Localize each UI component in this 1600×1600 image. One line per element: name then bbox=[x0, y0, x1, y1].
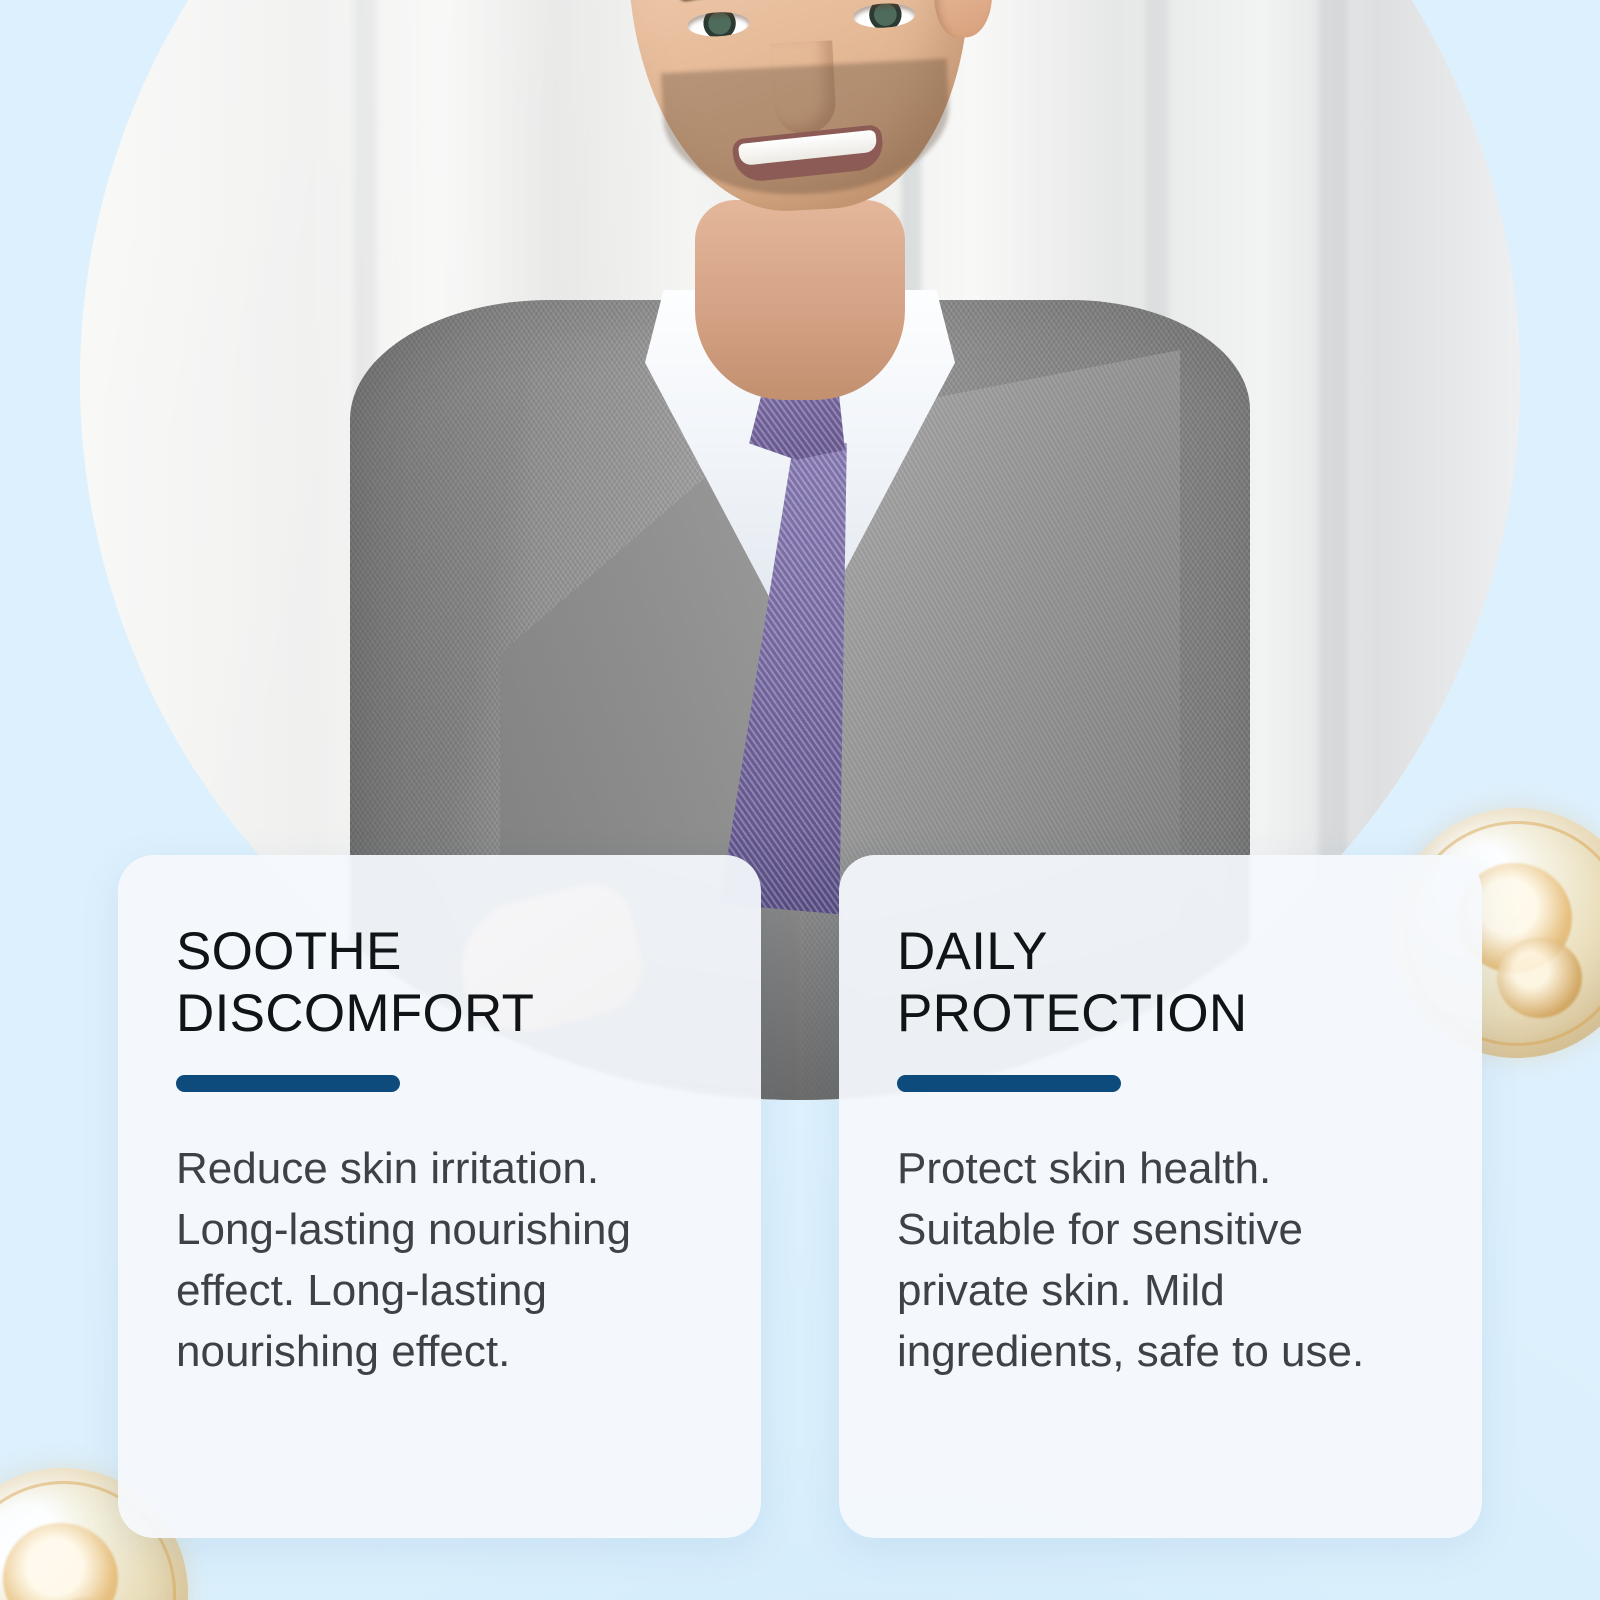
stubble-beard bbox=[661, 58, 953, 201]
feature-card-body: Protect skin health. Suitable for sensit… bbox=[897, 1138, 1422, 1382]
feature-card-daily-protection[interactable]: DAILY PROTECTION Protect skin health. Su… bbox=[839, 855, 1482, 1538]
neck bbox=[695, 200, 905, 400]
feature-card-body: Reduce skin irritation. Long-lasting nou… bbox=[176, 1138, 701, 1382]
eye-right bbox=[853, 2, 916, 29]
promo-banner: SOOTHE DISCOMFORT Reduce skin irritation… bbox=[0, 0, 1600, 1600]
accent-rule bbox=[176, 1075, 400, 1092]
eyebrow-left bbox=[677, 0, 764, 3]
feature-card-soothe-discomfort[interactable]: SOOTHE DISCOMFORT Reduce skin irritation… bbox=[118, 855, 761, 1538]
head bbox=[619, 0, 981, 219]
ear bbox=[931, 0, 994, 39]
eye-left bbox=[687, 11, 750, 38]
feature-card-title: DAILY PROTECTION bbox=[897, 921, 1422, 1045]
accent-rule bbox=[897, 1075, 1121, 1092]
droplet-core-secondary bbox=[1497, 938, 1582, 1018]
feature-card-title: SOOTHE DISCOMFORT bbox=[176, 921, 701, 1045]
feature-card-list: SOOTHE DISCOMFORT Reduce skin irritation… bbox=[118, 855, 1482, 1538]
